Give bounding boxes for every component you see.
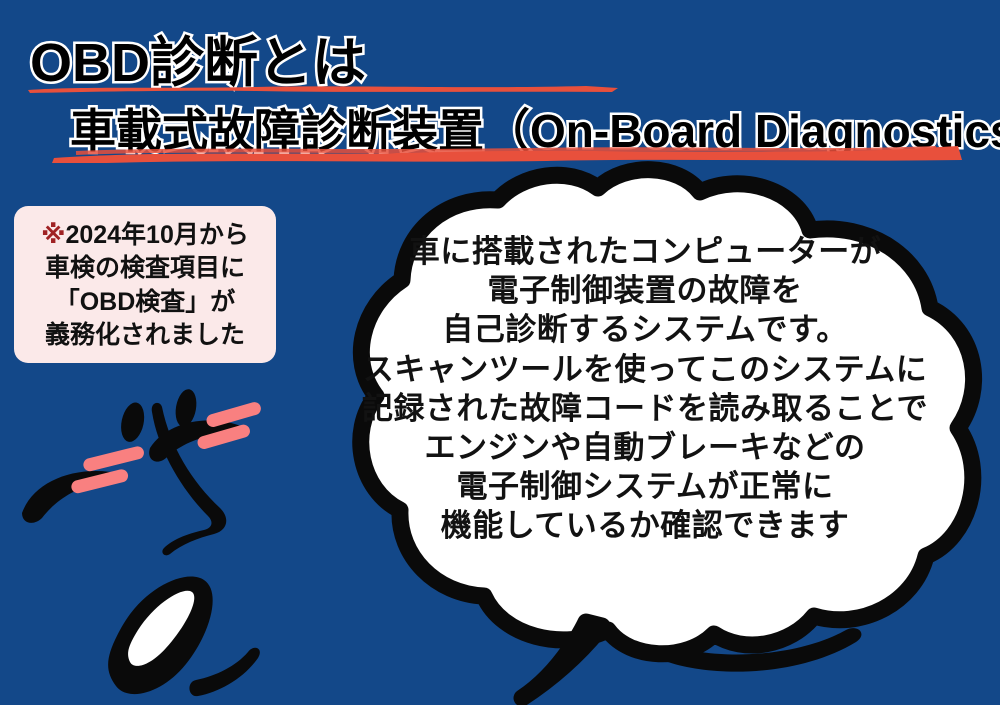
title-underline-short <box>26 84 622 93</box>
bubble-line-6: エンジンや自動ブレーキなどの <box>300 428 990 467</box>
note-line-4: 義務化されました <box>45 319 245 352</box>
note-line-3: 「OBD検査」が <box>55 286 236 319</box>
bubble-line-5: 記録された故障コードを読み取ることで <box>300 389 990 428</box>
left-blush-icon <box>70 445 145 495</box>
bubble-line-2: 電子制御装置の故障を <box>300 271 990 310</box>
bubble-line-4: スキャンツールを使ってこのシステムに <box>300 350 990 389</box>
note-box: ※2024年10月から 車検の検査項目に 「OBD検査」が 義務化されました <box>14 206 276 363</box>
bubble-line-3: 自己診断するシステムです。 <box>300 310 990 349</box>
title-underline-long <box>46 144 966 164</box>
bubble-line-7: 電子制御システムが正常に <box>300 467 990 506</box>
chin-line-icon <box>189 648 259 696</box>
headline-block: OBD診断とは 車載式故障診断装置（On-Board Diagnostics） <box>0 0 1000 175</box>
note-line-1: ※2024年10月から <box>41 219 249 252</box>
asterisk-icon: ※ <box>41 221 65 249</box>
note-line-2: 車検の検査項目に <box>45 252 245 285</box>
bubble-line-8: 機能しているか確認できます <box>300 506 990 545</box>
note-line-1-text: 2024年10月から <box>65 221 248 249</box>
poster-root: 車に搭載されたコンピューターが 電子制御装置の故障を 自己診断するシステムです。… <box>0 0 1000 705</box>
left-eye-icon <box>118 400 148 444</box>
bubble-line-1: 車に搭載されたコンピューターが <box>300 232 990 271</box>
bubble-text-block: 車に搭載されたコンピューターが 電子制御装置の故障を 自己診断するシステムです。… <box>300 232 990 546</box>
